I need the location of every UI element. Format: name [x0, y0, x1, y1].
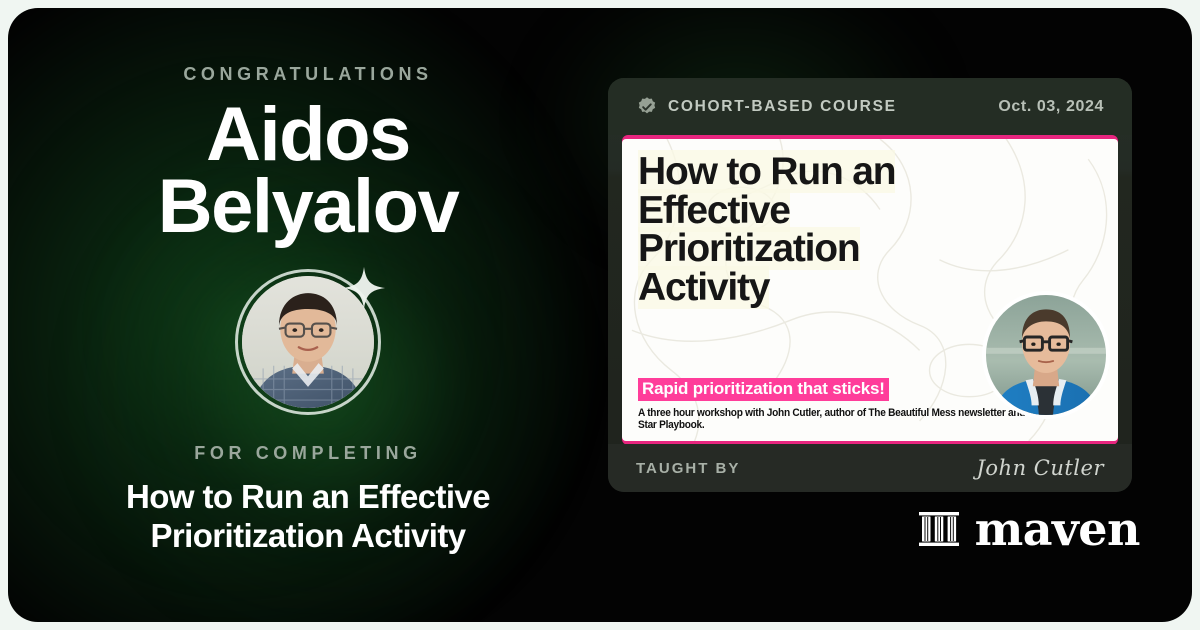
avatar — [235, 269, 381, 415]
maven-columns-icon — [917, 507, 961, 551]
verified-badge-icon — [636, 96, 658, 118]
course-card-footer: TAUGHT BY John Cutler — [608, 444, 1132, 492]
course-title: How to Run an Effective Prioritization A… — [58, 478, 558, 556]
recipient-name-line-2: Belyalov — [158, 171, 459, 243]
taught-by-label: TAUGHT BY — [636, 460, 740, 477]
recipient-name-line-1: Aidos — [158, 99, 459, 171]
maven-wordmark: maven — [975, 506, 1140, 552]
thumbnail-title-line-4: Activity — [638, 266, 769, 309]
instructor-photo — [982, 291, 1110, 419]
course-date: Oct. 03, 2024 — [998, 98, 1104, 116]
thumbnail-title-line-2: Effective — [638, 189, 790, 232]
course-thumbnail-frame: How to Run an Effective Prioritization A… — [622, 135, 1118, 445]
thumbnail-title: How to Run an Effective Prioritization A… — [638, 153, 978, 307]
congratulations-label: CONGRATULATIONS — [183, 64, 432, 85]
cohort-based-course-label: COHORT-BASED COURSE — [668, 98, 897, 116]
for-completing-label: FOR COMPLETING — [194, 443, 421, 464]
course-card[interactable]: COHORT-BASED COURSE Oct. 03, 2024 — [608, 78, 1132, 492]
certificate-card: CONGRATULATIONS Aidos Belyalov — [8, 8, 1192, 622]
recipient-panel: CONGRATULATIONS Aidos Belyalov — [8, 8, 608, 622]
recipient-name: Aidos Belyalov — [158, 99, 459, 243]
thumbnail-title-line-1: How to Run an — [638, 150, 895, 193]
thumbnail-subtitle: A three hour workshop with John Cutler, … — [638, 407, 1065, 431]
course-thumbnail: How to Run an Effective Prioritization A… — [622, 139, 1118, 441]
instructor-signature: John Cutler — [976, 456, 1104, 480]
thumbnail-title-line-3: Prioritization — [638, 227, 860, 270]
thumbnail-tagline: Rapid prioritization that sticks! — [638, 378, 889, 401]
course-card-header: COHORT-BASED COURSE Oct. 03, 2024 — [608, 78, 1132, 135]
maven-logo[interactable]: maven — [917, 506, 1140, 552]
certificate-page: CONGRATULATIONS Aidos Belyalov — [0, 0, 1200, 630]
sparkle-icon — [341, 265, 387, 311]
